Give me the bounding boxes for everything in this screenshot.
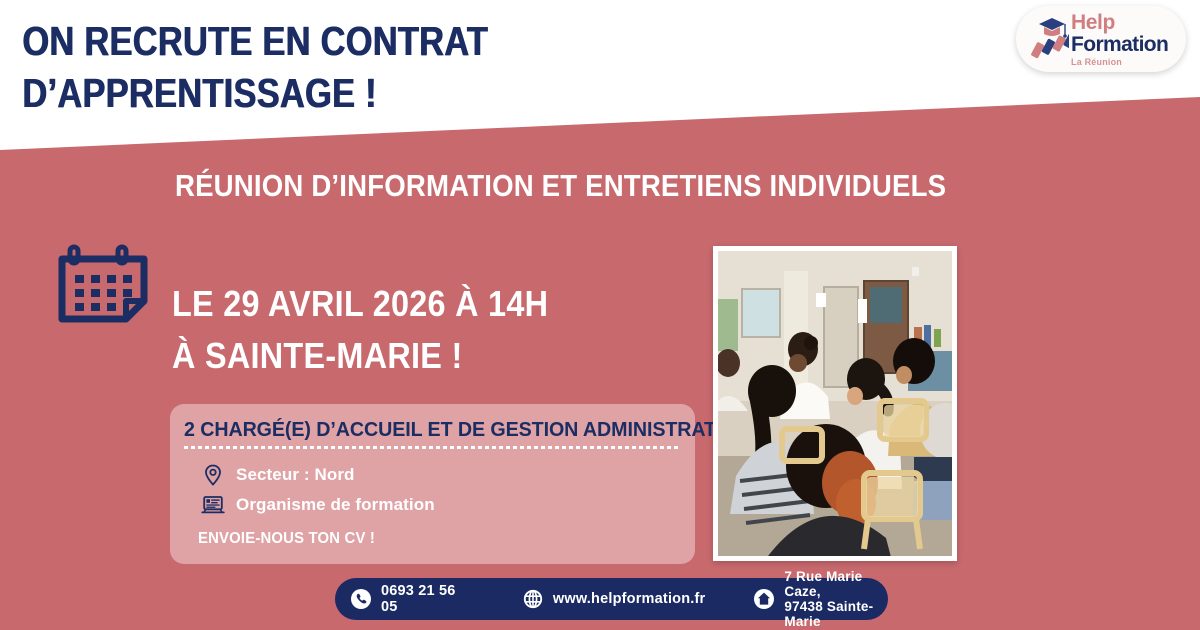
calendar-icon [58, 243, 152, 323]
page-title: ON RECRUTE EN CONTRAT D’APPRENTISSAGE ! [22, 16, 488, 119]
job-detail-sector-label: Secteur : Nord [236, 465, 355, 485]
contact-footer-bar: 0693 21 56 05 www.helpformation.fr 7 Rue… [335, 578, 888, 620]
event-date-location: LE 29 AVRIL 2026 À 14H À SAINTE-MARIE ! [172, 278, 548, 382]
meeting-room-photo [713, 246, 957, 561]
footer-website-url: www.helpformation.fr [553, 591, 706, 607]
location-pin-icon [201, 463, 225, 487]
section-heading: RÉUNION D’INFORMATION ET ENTRETIENS INDI… [175, 168, 946, 204]
footer-phone-number: 0693 21 56 05 [381, 583, 459, 615]
job-detail-sector: Secteur : Nord [201, 460, 679, 490]
globe-icon [522, 588, 544, 610]
recruitment-poster: ON RECRUTE EN CONTRAT D’APPRENTISSAGE ! … [0, 0, 1200, 630]
job-cta-text: ENVOIE-NOUS TON CV ! [198, 530, 645, 548]
footer-website[interactable]: www.helpformation.fr [522, 588, 706, 610]
job-detail-organisation: Organisme de formation [201, 490, 679, 520]
logo-brand-top: Help [1071, 12, 1168, 33]
logo-tagline: La Réunion [1071, 58, 1168, 67]
job-offer-card: 2 CHARGÉ(E) D’ACCUEIL ET DE GESTION ADMI… [170, 404, 695, 564]
laptop-icon [201, 493, 225, 517]
job-detail-organisation-label: Organisme de formation [236, 495, 435, 515]
phone-icon [350, 588, 372, 610]
meeting-room-audience-photo [718, 251, 952, 556]
job-title: 2 CHARGÉ(E) D’ACCUEIL ET DE GESTION ADMI… [184, 418, 659, 442]
footer-phone[interactable]: 0693 21 56 05 [350, 583, 459, 615]
job-title-divider [184, 446, 681, 449]
home-icon [753, 588, 775, 610]
footer-address[interactable]: 7 Rue Marie Caze, 97438 Sainte-Marie [753, 569, 888, 629]
brand-logo[interactable]: Help Formation La Réunion [1016, 6, 1186, 72]
graduation-cap-icon [1025, 11, 1069, 67]
footer-address-text: 7 Rue Marie Caze, 97438 Sainte-Marie [784, 569, 888, 629]
logo-brand-bottom: Formation [1071, 34, 1168, 55]
